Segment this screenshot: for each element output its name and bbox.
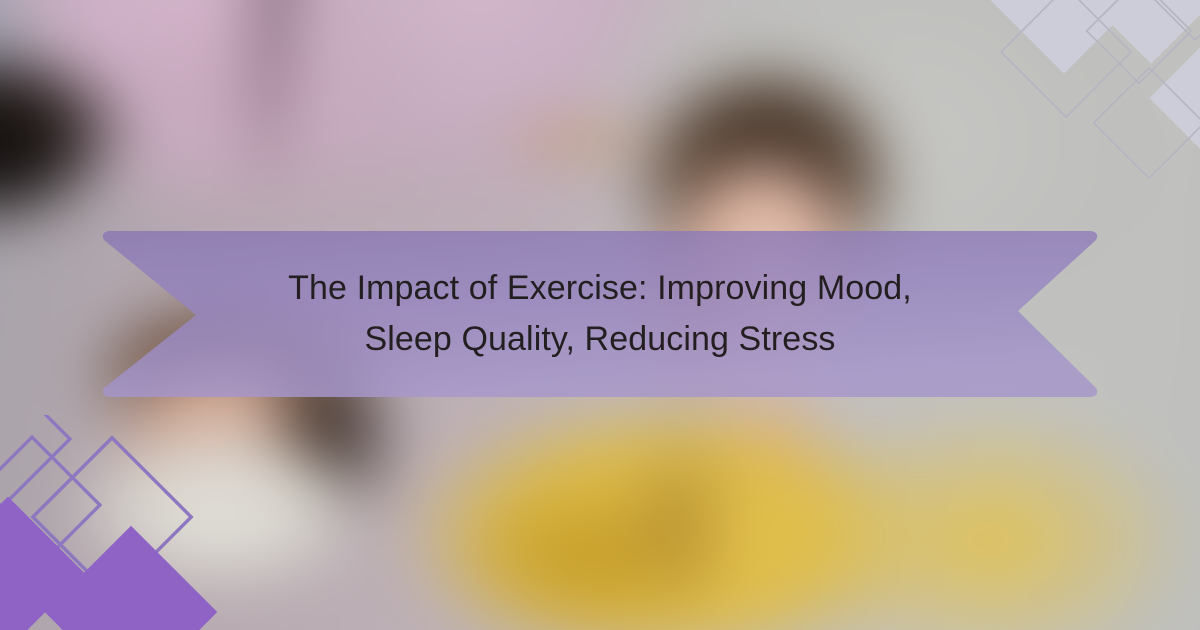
page-title-line-1: The Impact of Exercise: Improving Mood,: [288, 263, 912, 314]
social-card: The Impact of Exercise: Improving Mood, …: [0, 0, 1200, 630]
ribbon-text-block: The Impact of Exercise: Improving Mood, …: [100, 225, 1100, 403]
background-dark-hair-left-core: [0, 90, 100, 240]
background-warm-patch-top: [480, 105, 680, 175]
background-child-garment: [60, 420, 380, 600]
page-title-line-2: Sleep Quality, Reducing Stress: [364, 314, 835, 365]
background-yellow-shirt-right: [780, 400, 1200, 630]
title-ribbon: The Impact of Exercise: Improving Mood, …: [100, 225, 1100, 403]
background-shirt-collar-shadow: [610, 420, 750, 620]
